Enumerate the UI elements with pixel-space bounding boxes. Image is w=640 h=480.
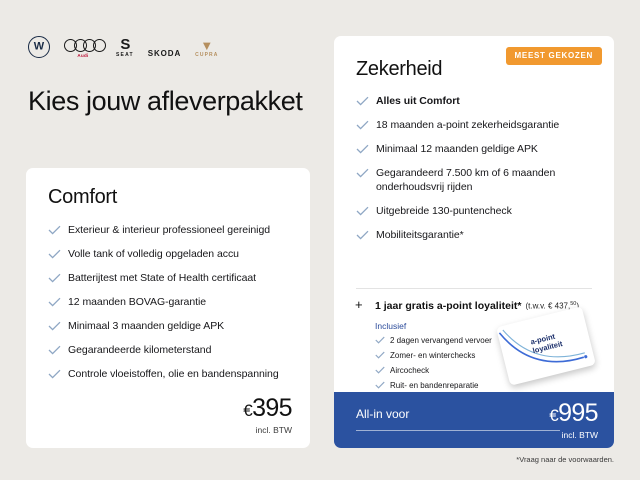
check-icon (48, 249, 61, 259)
list-item: Minimaal 3 maanden geldige APK (48, 319, 293, 333)
volkswagen-icon (28, 36, 50, 58)
comfort-price-block: €395 incl. BTW (243, 395, 292, 435)
check-icon (375, 336, 385, 348)
check-icon (356, 144, 369, 154)
volkswagen-logo (28, 36, 50, 58)
offer-page: Audi S SEAT SKODA ▼ CUPRA Kies jouw afle… (0, 0, 640, 480)
list-item: 18 maanden a-point zekerheidsgarantie (356, 118, 596, 132)
list-item-label: Aircocheck (390, 365, 429, 377)
list-item-label: Mobiliteitsgarantie* (376, 228, 596, 242)
zekerheid-package-card[interactable]: MEEST GEKOZEN Zekerheid Alles uit Comfor… (334, 36, 614, 448)
check-icon (356, 230, 369, 240)
divider (356, 430, 560, 431)
cupra-wordmark: CUPRA (195, 52, 218, 58)
brand-logo-strip: Audi S SEAT SKODA ▼ CUPRA (28, 32, 218, 58)
footnote: *Vraag naar de voorwaarden. (516, 455, 614, 464)
check-icon (375, 351, 385, 363)
list-item: Mobiliteitsgarantie* (356, 228, 596, 242)
list-item-label: Exterieur & interieur professioneel gere… (68, 223, 293, 237)
list-item-label: Volle tank of volledig opgeladen accu (68, 247, 293, 261)
list-item-label: Gegarandeerd 7.500 km of 6 maanden onder… (376, 166, 596, 194)
list-item: Alles uit Comfort (356, 94, 596, 108)
list-item-label: Minimaal 12 maanden geldige APK (376, 142, 596, 156)
audi-wordmark: Audi (77, 53, 88, 58)
allin-price-bar: All-in voor €995 incl. BTW (334, 392, 614, 448)
list-item: 12 maanden BOVAG-garantie (48, 295, 293, 309)
list-item-label: 2 dagen vervangend vervoer (390, 335, 492, 347)
list-item-label: Minimaal 3 maanden geldige APK (68, 319, 293, 333)
allin-price-note: incl. BTW (549, 430, 598, 440)
check-icon (48, 321, 61, 331)
comfort-feature-list: Exterieur & interieur professioneel gere… (48, 223, 293, 391)
allin-price: €995 (549, 400, 598, 429)
comfort-package-card[interactable]: Comfort Exterieur & interieur profession… (26, 168, 310, 448)
cupra-icon: ▼ (200, 40, 213, 51)
comfort-title: Comfort (48, 186, 117, 209)
list-item-label: Uitgebreide 130-puntencheck (376, 204, 596, 218)
list-item: Batterijtest met State of Health certifi… (48, 271, 293, 285)
list-item-label: Gegarandeerde kilometerstand (68, 343, 293, 357)
cupra-logo: ▼ CUPRA (195, 40, 218, 58)
seat-wordmark: SEAT (116, 52, 134, 58)
list-item: Volle tank of volledig opgeladen accu (48, 247, 293, 261)
check-icon (356, 96, 369, 106)
currency-symbol: € (243, 401, 252, 420)
list-item-label: Alles uit Comfort (376, 94, 596, 108)
list-item-label: 18 maanden a-point zekerheidsgarantie (376, 118, 596, 132)
loyalty-title: 1 jaar gratis a-point loyaliteit* (375, 300, 521, 312)
list-item: Controle vloeistoffen, olie en bandenspa… (48, 367, 293, 381)
list-item-label: Controle vloeistoffen, olie en bandenspa… (68, 367, 293, 381)
price-value: 395 (252, 394, 292, 422)
check-icon (356, 120, 369, 130)
divider (356, 288, 592, 289)
zekerheid-title: Zekerheid (356, 58, 442, 81)
comfort-price-note: incl. BTW (243, 425, 292, 435)
skoda-wordmark: SKODA (148, 49, 181, 58)
check-icon (48, 225, 61, 235)
comfort-price: €395 (243, 395, 292, 424)
list-item: Exterieur & interieur professioneel gere… (48, 223, 293, 237)
check-icon (48, 345, 61, 355)
audi-logo: Audi (64, 39, 102, 58)
plus-icon: + (355, 298, 368, 311)
list-item: Uitgebreide 130-puntencheck (356, 204, 596, 218)
allin-price-block: €995 incl. BTW (549, 400, 598, 440)
list-item: Minimaal 12 maanden geldige APK (356, 142, 596, 156)
check-icon (356, 206, 369, 216)
seat-icon: S (120, 39, 129, 51)
list-item-label: Ruit- en bandenreparatie (390, 380, 479, 392)
currency-symbol: € (549, 406, 558, 425)
status-badge: MEEST GEKOZEN (506, 47, 602, 65)
audi-rings-icon (64, 39, 102, 52)
check-icon (356, 168, 369, 178)
list-item: Gegarandeerde kilometerstand (48, 343, 293, 357)
list-item: Gegarandeerd 7.500 km of 6 maanden onder… (356, 166, 596, 194)
page-title: Kies jouw afleverpakket (28, 84, 308, 118)
check-icon (375, 366, 385, 378)
seat-logo: S SEAT (116, 39, 134, 58)
check-icon (48, 369, 61, 379)
zekerheid-feature-list: Alles uit Comfort 18 maanden a-point zek… (356, 94, 596, 252)
skoda-logo: SKODA (148, 49, 181, 58)
allin-label: All-in voor (356, 407, 409, 421)
check-icon (48, 273, 61, 283)
list-item-label: 12 maanden BOVAG-garantie (68, 295, 293, 309)
list-item-label: Batterijtest met State of Health certifi… (68, 271, 293, 285)
check-icon (48, 297, 61, 307)
list-item-label: Zomer- en winterchecks (390, 350, 475, 362)
price-value: 995 (558, 399, 598, 427)
